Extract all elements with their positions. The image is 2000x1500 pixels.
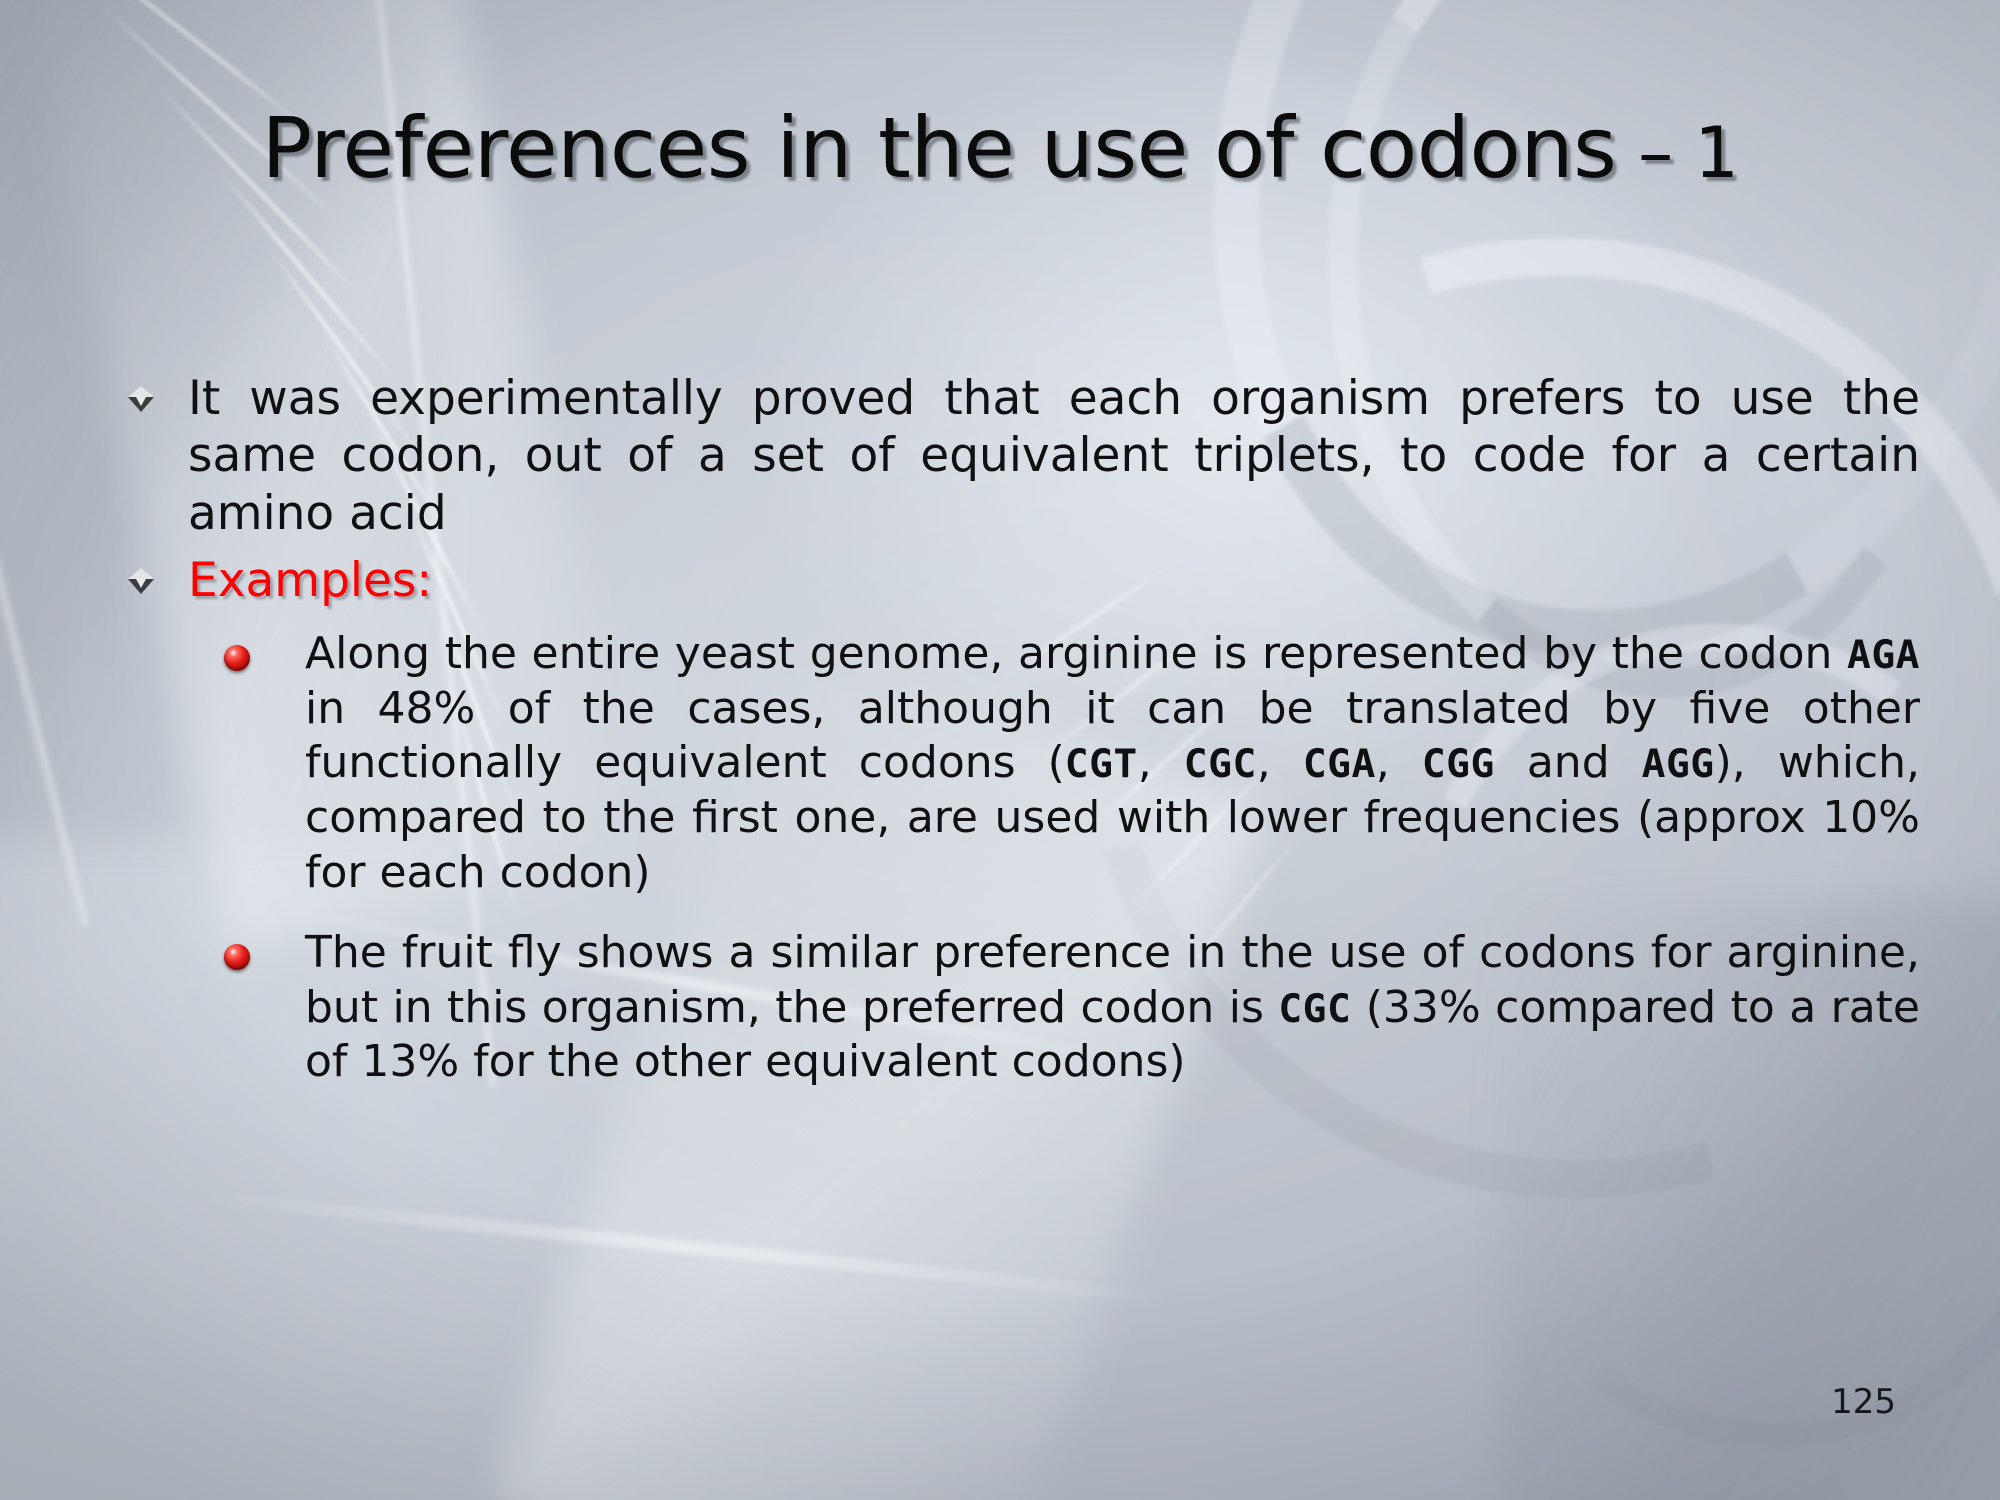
red-sphere-bullet-icon — [224, 645, 250, 671]
slide-canvas: Preferences in the use of codons – 1 It … — [0, 0, 2000, 1500]
sub-bullet-item-2: The fruit fly shows a similar preference… — [120, 926, 1920, 1090]
slide-title-suffix: – 1 — [1616, 112, 1738, 194]
codon-cgc: CGC — [1184, 741, 1257, 787]
codon-cgt: CGT — [1065, 741, 1138, 787]
red-sphere-bullet-icon — [224, 944, 250, 970]
codon-cgg: CGG — [1422, 741, 1495, 787]
sub1-sep3: , — [1376, 737, 1422, 788]
slide-title-main: Preferences in the use of codons — [262, 99, 1617, 197]
sub-bullet-item-1: Along the entire yeast genome, arginine … — [120, 627, 1920, 900]
slide-body: It was experimentally proved that each o… — [120, 370, 1920, 1116]
sub-bullet-2-text: The fruit fly shows a similar preference… — [305, 926, 1920, 1090]
codon-cgc: CGC — [1278, 986, 1351, 1032]
bullet-item-1: It was experimentally proved that each o… — [120, 370, 1920, 542]
arrowhead-bullet-icon — [128, 386, 154, 412]
codon-cga: CGA — [1303, 741, 1376, 787]
codon-agg: AGG — [1642, 741, 1715, 787]
arrowhead-bullet-icon — [128, 568, 154, 594]
sub1-sep1: , — [1138, 737, 1184, 788]
sub-bullet-1-text: Along the entire yeast genome, arginine … — [305, 627, 1920, 900]
bullet-1-text: It was experimentally proved that each o… — [188, 370, 1920, 542]
codon-aga: AGA — [1847, 632, 1920, 678]
sub-bullet-list: Along the entire yeast genome, arginine … — [120, 627, 1920, 1089]
examples-label: Examples: — [188, 552, 1920, 609]
slide-title: Preferences in the use of codons – 1 — [100, 106, 1900, 190]
bullet-item-examples: Examples: — [120, 552, 1920, 609]
sub1-sep4: and — [1495, 737, 1642, 788]
sub1-sep2: , — [1257, 737, 1303, 788]
page-number: 125 — [1831, 1382, 1896, 1422]
sub1-part1: Along the entire yeast genome, arginine … — [305, 628, 1847, 679]
